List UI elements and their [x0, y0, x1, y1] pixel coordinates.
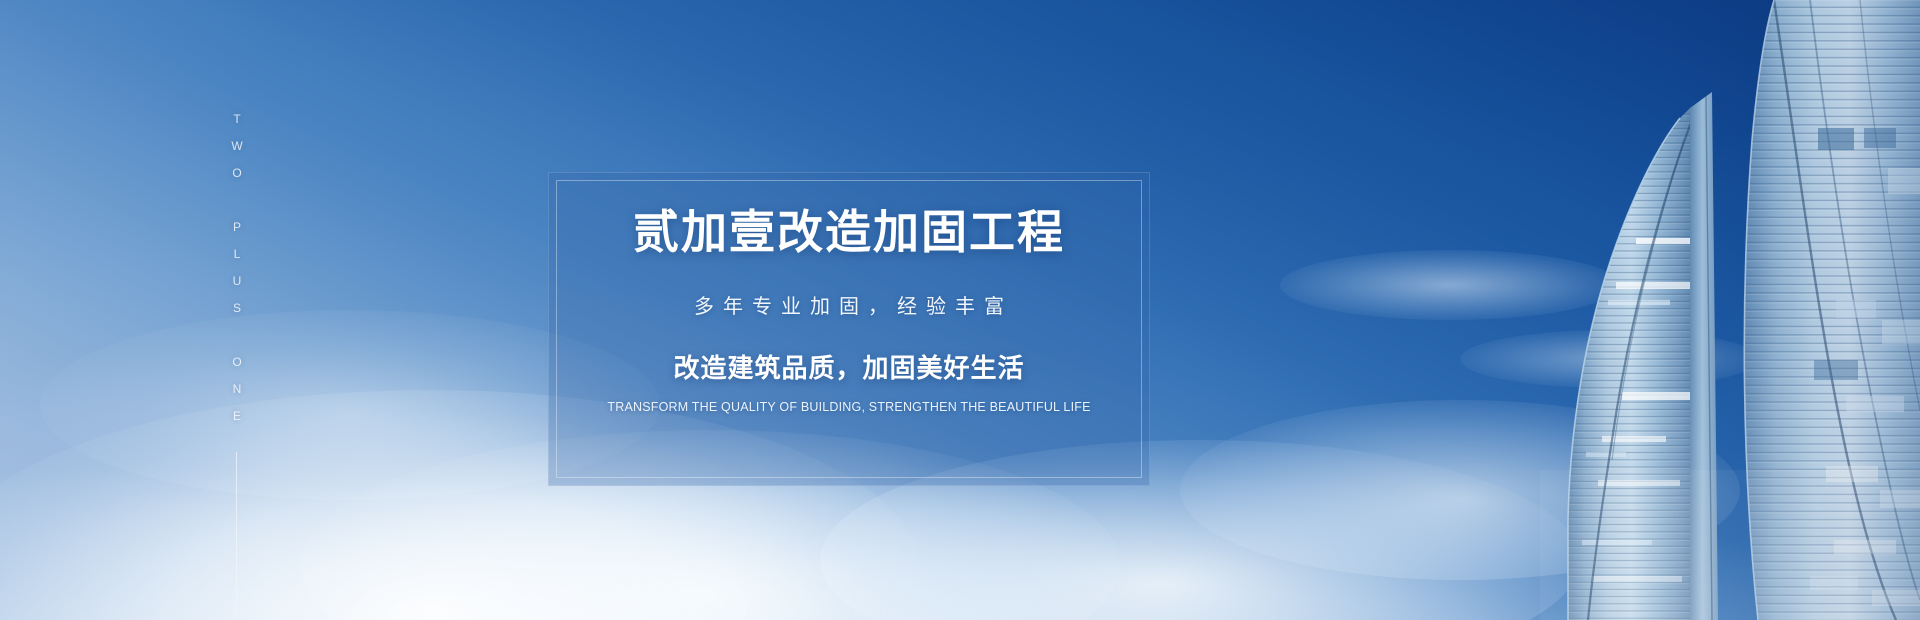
- left-tower-edge: [1568, 118, 1680, 620]
- cloud-right: [1180, 400, 1740, 580]
- hero-text-panel: 贰加壹改造加固工程 多年专业加固，经验丰富 改造建筑品质，加固美好生活 TRAN…: [548, 172, 1150, 486]
- right-tower: [1732, 0, 1920, 620]
- brand-vertical-text: TWO PLUS ONE: [224, 112, 250, 436]
- hero-subheadline: 多年专业加固，经验丰富: [685, 297, 1013, 317]
- cloud-streak-upper: [1280, 250, 1620, 320]
- hero-headline: 贰加壹改造加固工程: [633, 209, 1065, 255]
- brand-vertical-label: TWO PLUS ONE: [231, 112, 243, 436]
- left-tower: [1560, 100, 1700, 620]
- cloud-streak-lower: [1460, 330, 1760, 388]
- brand-vertical-rule: [236, 452, 237, 620]
- hero-slogan-en: TRANSFORM THE QUALITY OF BUILDING, STREN…: [607, 401, 1090, 414]
- hero-panel-content: 贰加壹改造加固工程 多年专业加固，经验丰富 改造建筑品质，加固美好生活 TRAN…: [549, 173, 1149, 485]
- right-tower-edge: [1744, 0, 1774, 620]
- hero-banner: TWO PLUS ONE 贰加壹改造加固工程 多年专业加固，经验丰富 改造建筑品…: [0, 0, 1920, 620]
- skyscrapers-image: [1340, 0, 1920, 620]
- skyscraper-illustration: [1340, 0, 1920, 620]
- tower-spine: [1690, 92, 1718, 620]
- hero-slogan-cn: 改造建筑品质，加固美好生活: [673, 355, 1024, 381]
